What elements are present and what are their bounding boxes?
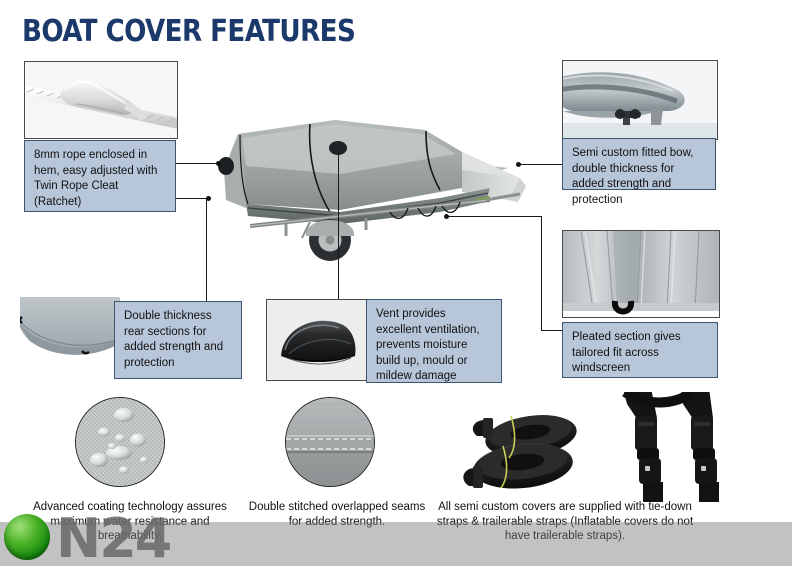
on24-green-ball-icon — [4, 514, 50, 560]
callout-pleated-section: Pleated section gives tailored fit acros… — [562, 322, 718, 378]
tie-down-straps-photo — [445, 392, 765, 502]
rear-section-photo — [20, 297, 120, 375]
watermark-text: N24 — [56, 507, 170, 566]
callout-vent-text: Vent provides excellent ventilation, pre… — [376, 308, 480, 382]
leader-bow-endpoint — [516, 162, 521, 167]
pleated-section-photo — [562, 230, 720, 318]
callout-fitted-bow: Semi custom fitted bow, double thickness… — [562, 138, 716, 190]
callout-rope-cleat: 8mm rope enclosed in hem, easy adjusted … — [24, 140, 176, 212]
leader-rope-endpoint — [216, 161, 221, 166]
page-title: BOAT COVER FEATURES — [22, 14, 355, 49]
callout-rear-sections-text: Double thickness rear sections for added… — [124, 310, 223, 369]
leader-pleated-endpoint — [444, 214, 449, 219]
vent-photo — [266, 299, 370, 381]
callout-rear-sections: Double thickness rear sections for added… — [114, 301, 242, 379]
water-beading-swatch — [75, 397, 165, 487]
leader-pleated-horizontal — [447, 216, 542, 217]
rope-cleat-photo — [24, 61, 178, 139]
leader-pleated-horizontal-2 — [541, 330, 562, 331]
leader-pleated-vertical — [541, 216, 542, 330]
fitted-bow-photo — [562, 60, 718, 140]
leader-rope-horizontal-2 — [176, 198, 208, 199]
leader-bow-horizontal — [520, 164, 562, 165]
callout-rope-cleat-text: 8mm rope enclosed in hem, easy adjusted … — [34, 149, 157, 208]
stitched-seam-swatch — [285, 397, 375, 487]
covered-boat-illustration — [190, 108, 540, 268]
callout-vent: Vent provides excellent ventilation, pre… — [366, 299, 502, 383]
leader-rope-horizontal — [176, 163, 220, 164]
callout-fitted-bow-text: Semi custom fitted bow, double thickness… — [572, 147, 693, 206]
leader-vent-vertical — [338, 149, 339, 299]
callout-pleated-section-text: Pleated section gives tailored fit acros… — [572, 331, 681, 374]
poster-canvas: BOAT COVER FEATURES — [0, 0, 792, 566]
leader-rear-vertical — [206, 198, 207, 301]
